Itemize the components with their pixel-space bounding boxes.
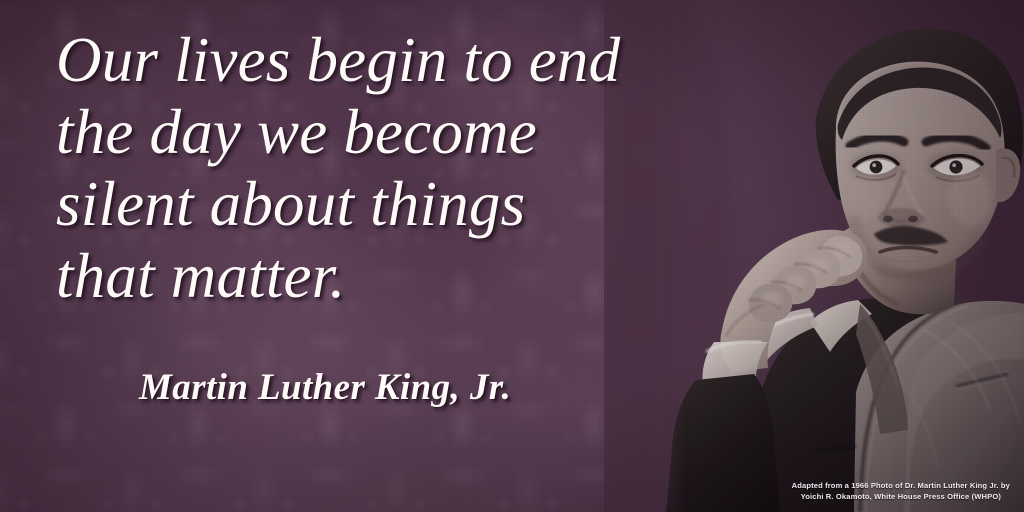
quote-line-1: Our lives begin to end	[56, 24, 736, 96]
quote-line-3: silent about things	[56, 168, 736, 240]
photo-credit: Adapted from a 1966 Photo of Dr. Martin …	[792, 481, 1010, 502]
quote-attribution: Martin Luther King, Jr.	[139, 366, 511, 410]
quote-line-4: that matter.	[56, 240, 736, 312]
quote-line-2: the day we become	[56, 96, 736, 168]
quote-poster: Our lives begin to end the day we become…	[0, 0, 1024, 512]
photo-credit-line-2: Yoichi R. Okamoto, White House Press Off…	[792, 492, 1010, 503]
photo-credit-line-1: Adapted from a 1966 Photo of Dr. Martin …	[792, 481, 1010, 492]
quote-text-block: Our lives begin to end the day we become…	[56, 24, 736, 312]
